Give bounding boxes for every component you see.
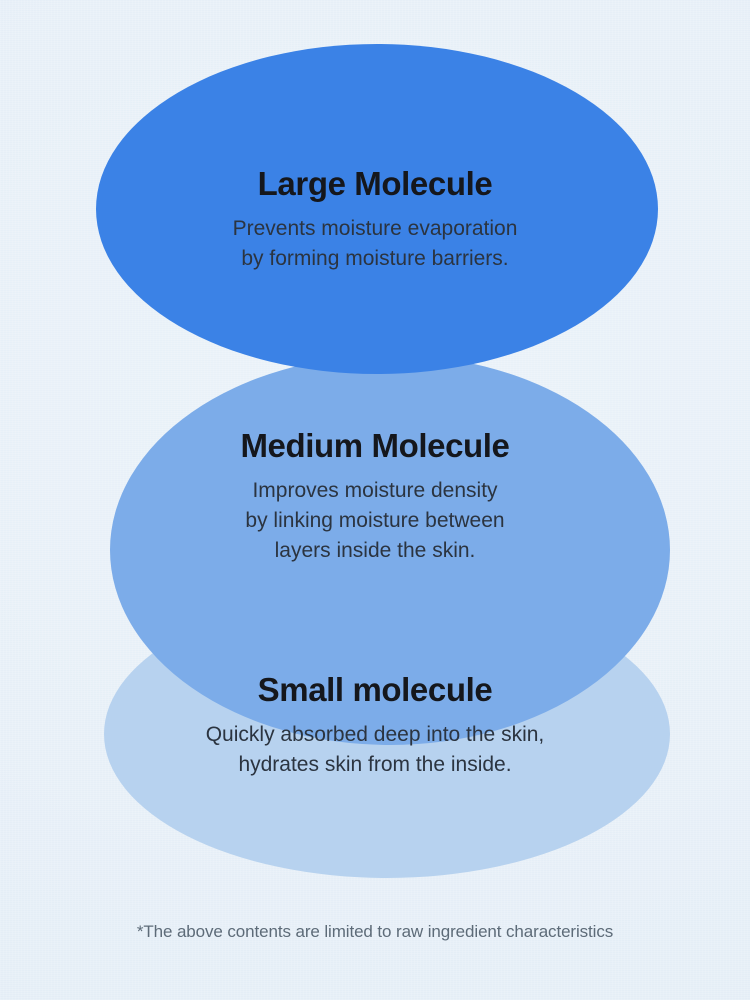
watermark-large-molecule: Large molecule: [427, 321, 658, 374]
infographic-canvas: Small molecule Medium molecule Large mol…: [0, 0, 750, 1000]
blob-large-molecule: Large molecule: [96, 44, 658, 374]
footnote: *The above contents are limited to raw i…: [0, 922, 750, 942]
blob-medium-molecule: Medium molecule: [110, 355, 670, 745]
watermark-small-molecule: Small molecule: [425, 827, 670, 878]
